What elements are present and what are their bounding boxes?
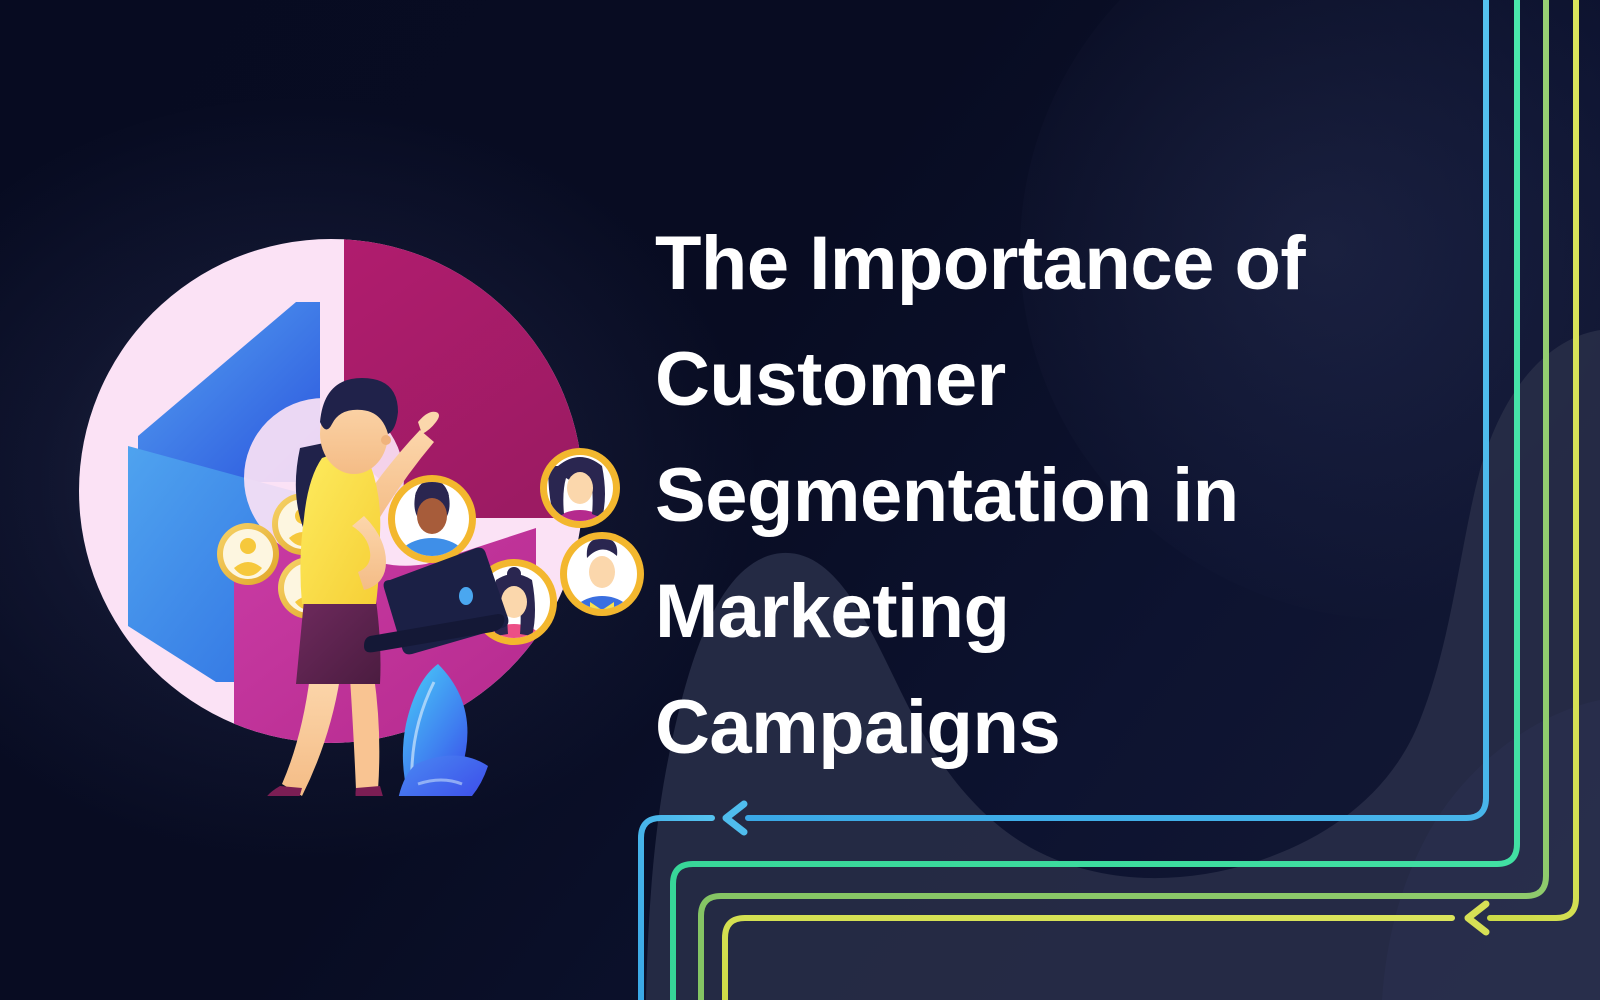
title-line-2: Customer	[655, 322, 1445, 438]
page-title: The Importance of Customer Segmentation …	[655, 206, 1445, 786]
avatar	[560, 532, 644, 644]
shoe-back	[264, 786, 302, 796]
title-line-1: The Importance of	[655, 206, 1445, 322]
ear	[381, 435, 391, 445]
title-line-5: Campaigns	[655, 670, 1445, 786]
laptop-logo	[459, 587, 473, 605]
title-line-4: Marketing	[655, 554, 1445, 670]
title-line-3: Segmentation in	[655, 438, 1445, 554]
coin-icon	[217, 523, 279, 585]
leg-front	[350, 676, 379, 790]
slide-canvas: The Importance of Customer Segmentation …	[0, 0, 1600, 1000]
customer-segmentation-illustration	[66, 196, 646, 796]
